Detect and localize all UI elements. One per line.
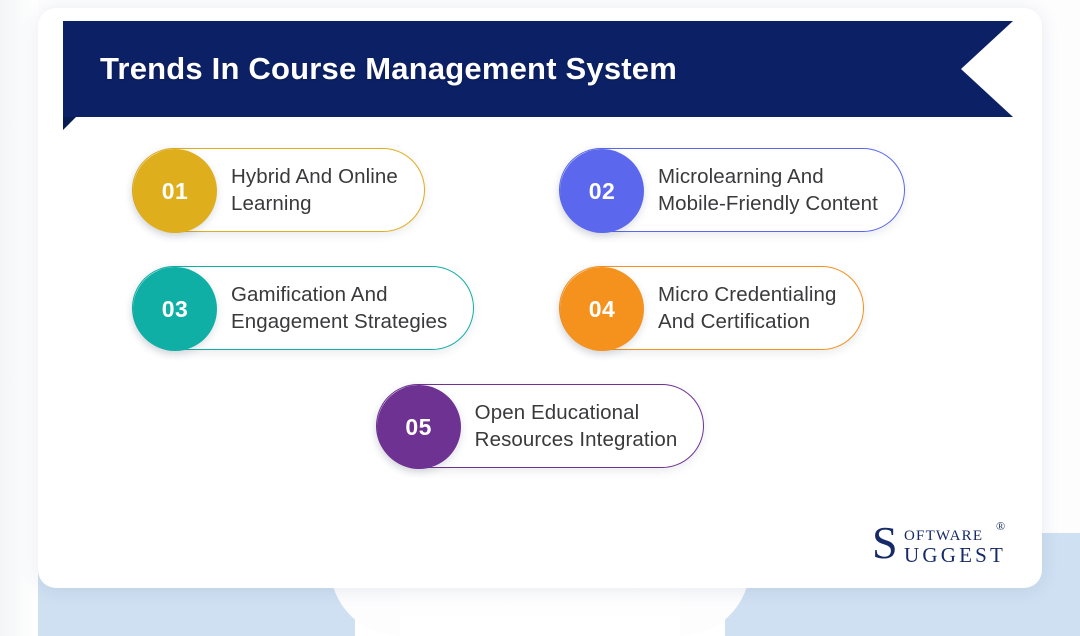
trend-pill-03[interactable]: 03 Gamification And Engagement Strategie…: [132, 266, 474, 350]
logo-mark-icon: S oftware ® UGGEST: [870, 514, 1020, 570]
trend-item-02[interactable]: 02 Microlearning And Mobile-Friendly Con…: [559, 148, 905, 232]
trend-item-04[interactable]: 04 Micro Credentialing And Certification: [559, 266, 864, 350]
trend-number-badge-01: 01: [133, 149, 217, 233]
trends-row-2: 03 Gamification And Engagement Strategie…: [38, 266, 1042, 384]
trends-row-1: 01 Hybrid And Online Learning 02 Microle…: [38, 148, 1042, 266]
logo-initial-letter: S: [872, 517, 898, 568]
trend-label-03: Gamification And Engagement Strategies: [231, 281, 447, 335]
trend-number-badge-05: 05: [377, 385, 461, 469]
trend-number-badge-03: 03: [133, 267, 217, 351]
trend-number-badge-02: 02: [560, 149, 644, 233]
trends-list: 01 Hybrid And Online Learning 02 Microle…: [38, 148, 1042, 502]
trend-pill-02[interactable]: 02 Microlearning And Mobile-Friendly Con…: [559, 148, 905, 232]
infographic-page: Trends In Course Management System 01 Hy…: [0, 0, 1080, 636]
trend-label-04: Micro Credentialing And Certification: [658, 281, 837, 335]
trend-item-01[interactable]: 01 Hybrid And Online Learning: [132, 148, 425, 232]
ribbon-notch-icon: [961, 21, 1013, 117]
trend-label-05: Open Educational Resources Integration: [475, 399, 678, 453]
logo-trademark-symbol: ®: [996, 519, 1005, 533]
trend-number-badge-04: 04: [560, 267, 644, 351]
softwaresuggest-logo: S oftware ® UGGEST: [870, 514, 1020, 570]
trend-item-05[interactable]: 05 Open Educational Resources Integratio…: [376, 384, 705, 468]
header-ribbon: Trends In Course Management System: [63, 21, 1013, 129]
trend-label-01: Hybrid And Online Learning: [231, 163, 398, 217]
trends-row-3: 05 Open Educational Resources Integratio…: [38, 384, 1042, 502]
page-title: Trends In Course Management System: [100, 21, 677, 117]
trend-item-03[interactable]: 03 Gamification And Engagement Strategie…: [132, 266, 474, 350]
logo-line-two: UGGEST: [904, 543, 1006, 567]
logo-line-one: oftware: [904, 521, 983, 545]
trend-label-02: Microlearning And Mobile-Friendly Conten…: [658, 163, 878, 217]
trend-pill-04[interactable]: 04 Micro Credentialing And Certification: [559, 266, 864, 350]
trend-pill-01[interactable]: 01 Hybrid And Online Learning: [132, 148, 425, 232]
trend-pill-05[interactable]: 05 Open Educational Resources Integratio…: [376, 384, 705, 468]
ribbon-fold-tail: [63, 116, 77, 130]
content-card: Trends In Course Management System 01 Hy…: [38, 8, 1042, 588]
